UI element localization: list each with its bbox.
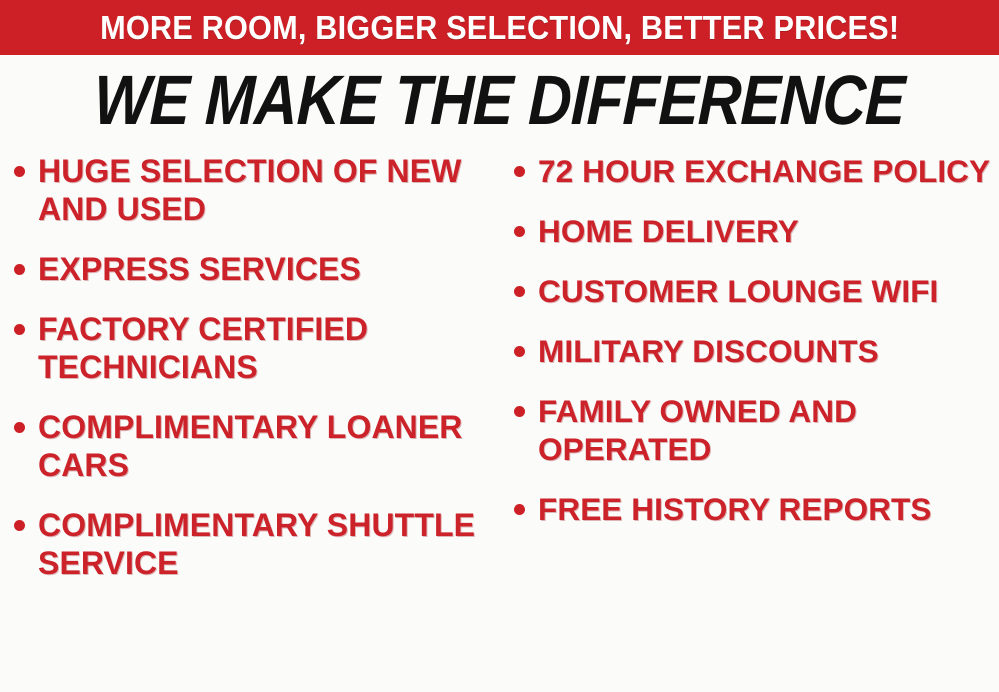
list-item-label: FREE HISTORY REPORTS — [538, 490, 997, 528]
list-item-label: FACTORY CERTIFIED TECHNICIANS — [38, 310, 496, 386]
list-item-label: CUSTOMER LOUNGE WIFI — [538, 272, 997, 310]
round-bullet-icon — [514, 504, 525, 515]
round-bullet-icon — [514, 286, 525, 297]
list-item: COMPLIMENTARY SHUTTLE SERVICE — [14, 506, 496, 582]
list-item: 72 HOUR EXCHANGE POLICY — [514, 152, 997, 190]
list-item-label: HOME DELIVERY — [538, 212, 997, 250]
list-item: HUGE SELECTION OF NEW AND USED — [14, 152, 496, 228]
round-bullet-icon — [14, 520, 25, 531]
list-item-label: 72 HOUR EXCHANGE POLICY — [538, 152, 997, 190]
list-item: FREE HISTORY REPORTS — [514, 490, 997, 528]
round-bullet-icon — [14, 166, 25, 177]
promo-banner: MORE ROOM, BIGGER SELECTION, BETTER PRIC… — [0, 0, 999, 55]
list-item: FAMILY OWNED AND OPERATED — [514, 392, 997, 468]
benefits-section: HUGE SELECTION OF NEW AND USED EXPRESS S… — [0, 152, 999, 692]
benefits-column-right: 72 HOUR EXCHANGE POLICY HOME DELIVERY CU… — [500, 152, 999, 550]
list-item: CUSTOMER LOUNGE WIFI — [514, 272, 997, 310]
round-bullet-icon — [14, 422, 25, 433]
list-item: FACTORY CERTIFIED TECHNICIANS — [14, 310, 496, 386]
list-item-label: COMPLIMENTARY LOANER CARS — [38, 408, 496, 484]
promo-banner-text: MORE ROOM, BIGGER SELECTION, BETTER PRIC… — [100, 11, 899, 44]
round-bullet-icon — [514, 226, 525, 237]
list-item: COMPLIMENTARY LOANER CARS — [14, 408, 496, 484]
list-item-label: MILITARY DISCOUNTS — [538, 332, 997, 370]
page-title: WE MAKE THE DIFFERENCE — [93, 63, 906, 137]
round-bullet-icon — [514, 166, 525, 177]
round-bullet-icon — [14, 264, 25, 275]
round-bullet-icon — [514, 406, 525, 417]
benefits-column-left: HUGE SELECTION OF NEW AND USED EXPRESS S… — [0, 152, 500, 604]
list-item: HOME DELIVERY — [514, 212, 997, 250]
list-item-label: EXPRESS SERVICES — [38, 250, 496, 288]
list-item: MILITARY DISCOUNTS — [514, 332, 997, 370]
round-bullet-icon — [514, 346, 525, 357]
list-item-label: COMPLIMENTARY SHUTTLE SERVICE — [38, 506, 496, 582]
list-item-label: FAMILY OWNED AND OPERATED — [538, 392, 997, 468]
round-bullet-icon — [14, 324, 25, 335]
list-item: EXPRESS SERVICES — [14, 250, 496, 288]
headline-block: WE MAKE THE DIFFERENCE — [0, 63, 999, 137]
list-item-label: HUGE SELECTION OF NEW AND USED — [38, 152, 496, 228]
